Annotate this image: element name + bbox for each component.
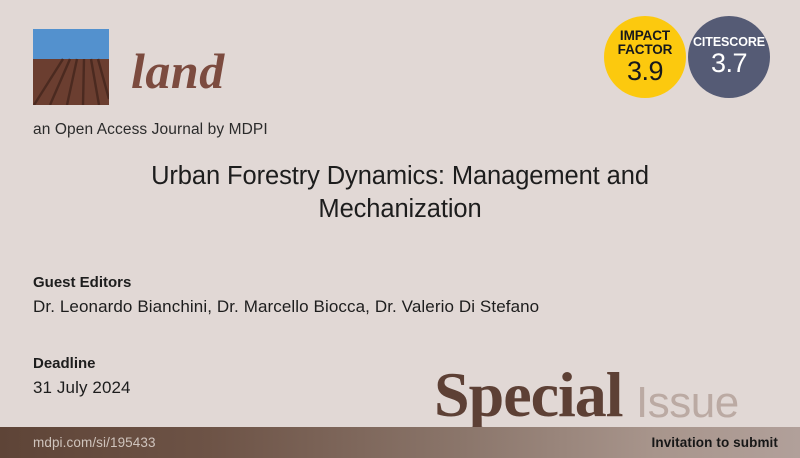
special-issue-url[interactable]: mdpi.com/si/195433 — [33, 435, 156, 450]
impact-factor-label-line2: FACTOR — [618, 43, 673, 57]
decorative-issue-word: Issue — [636, 381, 739, 425]
guest-editors-names: Dr. Leonardo Bianchini, Dr. Marcello Bio… — [33, 297, 539, 317]
brand-row: land — [33, 29, 225, 105]
impact-factor-label-line1: IMPACT — [620, 29, 670, 43]
deadline-heading: Deadline — [33, 355, 131, 372]
brand-wordmark: land — [131, 46, 225, 96]
impact-factor-badge: IMPACT FACTOR 3.9 — [604, 16, 686, 98]
citescore-badge: CITESCORE 3.7 — [688, 16, 770, 98]
land-field-logo-icon — [33, 29, 109, 105]
deadline-block: Deadline 31 July 2024 — [33, 355, 131, 398]
guest-editors-block: Guest Editors Dr. Leonardo Bianchini, Dr… — [33, 274, 539, 317]
footer-bar: mdpi.com/si/195433 Invitation to submit — [0, 427, 800, 458]
citescore-value: 3.7 — [711, 50, 747, 78]
impact-factor-value: 3.9 — [627, 58, 663, 86]
issue-title: Urban Forestry Dynamics: Management and … — [120, 160, 680, 225]
special-issue-flyer: land an Open Access Journal by MDPI IMPA… — [0, 0, 800, 458]
deadline-date: 31 July 2024 — [33, 378, 131, 398]
brand-tagline: an Open Access Journal by MDPI — [33, 121, 268, 139]
decorative-special-word: Special — [434, 363, 623, 427]
invitation-to-submit-label[interactable]: Invitation to submit — [652, 435, 779, 450]
guest-editors-heading: Guest Editors — [33, 274, 539, 291]
